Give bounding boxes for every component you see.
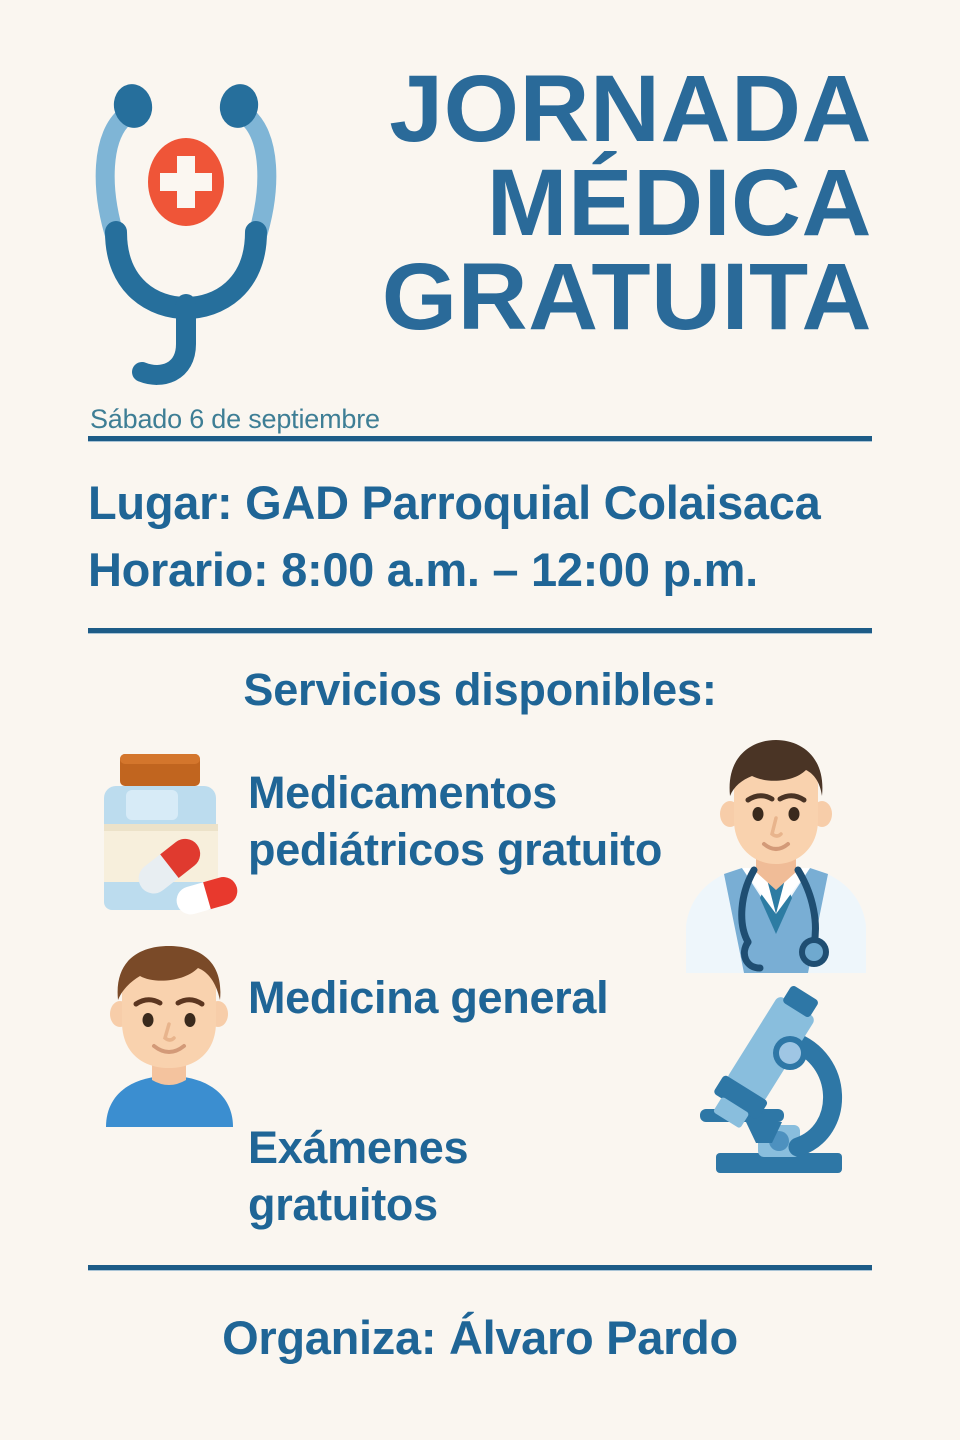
event-info: Lugar: GAD Parroquial Colaisaca Horario:…	[88, 470, 888, 603]
divider-middle	[88, 628, 872, 634]
stethoscope-icon	[86, 72, 286, 392]
doctor-illustration	[668, 738, 884, 973]
service-label-examenes: Exámenes gratuitos	[248, 1120, 668, 1233]
microscope-icon	[694, 975, 864, 1175]
organizer-line: Organiza: Álvaro Pardo	[0, 1310, 960, 1365]
title-line-1: JORNADA	[260, 62, 872, 156]
divider-bottom	[88, 1265, 872, 1271]
event-date: Sábado 6 de septiembre	[90, 404, 380, 435]
service-label-medicina-general: Medicina general	[248, 970, 718, 1027]
child-avatar-icon	[92, 942, 247, 1127]
poster-header: JORNADA MÉDICA GRATUITA	[0, 0, 960, 400]
title-line-3: GRATUITA	[260, 250, 872, 344]
title-line-2: MÉDICA	[260, 156, 872, 250]
services-heading: Servicios disponibles:	[0, 664, 960, 716]
page-title: JORNADA MÉDICA GRATUITA	[272, 62, 872, 344]
event-place: Lugar: GAD Parroquial Colaisaca	[88, 470, 888, 537]
event-time: Horario: 8:00 a.m. – 12:00 p.m.	[88, 537, 888, 604]
pill-bottle-icon	[98, 748, 238, 918]
divider-top	[88, 436, 872, 442]
poster-canvas: JORNADA MÉDICA GRATUITA Sábado 6 de sept…	[0, 0, 960, 1440]
